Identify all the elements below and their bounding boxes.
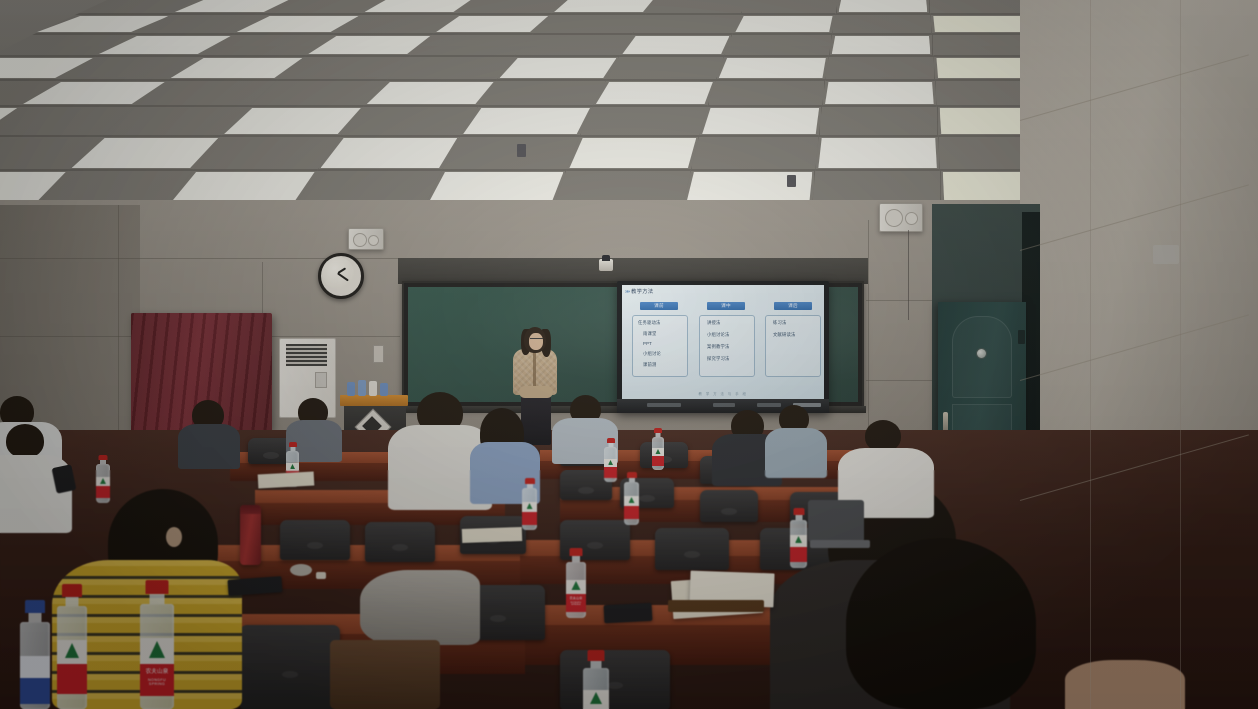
ceiling-camera: [787, 175, 796, 187]
thermos-flask[interactable]: [240, 505, 261, 565]
supply-bottle: [347, 382, 355, 396]
tissue: [316, 572, 326, 579]
wall-mounted-speaker: [1153, 245, 1179, 264]
door-handle[interactable]: [943, 412, 948, 432]
wall-seam: [118, 205, 119, 455]
ceiling-tile: [825, 56, 935, 80]
audience-head: [6, 424, 44, 458]
water-bottle[interactable]: 农夫山泉 NONGFU SPRING: [566, 548, 586, 618]
chair: [240, 625, 340, 709]
supply-bottle: [380, 383, 388, 396]
door-hinge: [1018, 330, 1025, 344]
bottle-brand-latin: NONGFU SPRING: [140, 679, 174, 686]
ceiling-tile: [832, 14, 932, 34]
water-bottle[interactable]: [57, 584, 87, 709]
slide-item: 任务驱动法: [638, 320, 660, 326]
small-cup: [290, 564, 312, 576]
ceiling-tile: [442, 136, 580, 170]
slide-item: 讲授法: [707, 320, 721, 326]
book-spine: [668, 600, 764, 612]
ceiling-tile: [819, 106, 939, 136]
chair: [640, 442, 688, 468]
door-peephole: [976, 348, 987, 359]
thermos-lid[interactable]: [240, 505, 261, 514]
supply-bottle: [358, 380, 366, 396]
wall-socket[interactable]: [373, 345, 384, 363]
podium-top: [340, 395, 408, 406]
laptop[interactable]: [808, 500, 864, 542]
ceiling-light-panel: [500, 58, 617, 78]
slide-column-header-1: 课前: [640, 302, 678, 310]
supply-bottle: [369, 381, 377, 396]
water-bottle[interactable]: [652, 428, 664, 470]
ceiling-light-panel: [735, 16, 832, 32]
water-bottle[interactable]: 农夫山泉 NONGFU SPRING: [140, 580, 174, 709]
ceiling-tile: [341, 106, 479, 136]
front-right-speaker: [879, 203, 923, 232]
ceiling-light-panel: [933, 16, 1028, 32]
chair: [700, 490, 758, 522]
water-bottle[interactable]: [624, 472, 639, 525]
ceiling-light-panel: [818, 138, 936, 168]
slide-column-header-2: 课中: [707, 302, 745, 310]
ceiling-tile: [633, 14, 741, 34]
ceiling-tile: [478, 80, 606, 106]
ac-control-panel[interactable]: [315, 372, 327, 388]
blackboard-camera: [598, 255, 614, 272]
foreground-neck: [1065, 660, 1185, 709]
bottle-brand-label: 农夫山泉: [566, 597, 586, 600]
ceiling-tile: [606, 56, 724, 80]
water-bottle[interactable]: [522, 478, 537, 530]
bottle-brand-latin: NONGFU SPRING: [566, 602, 586, 606]
slide-item: PPT: [643, 341, 652, 346]
audience-body: [765, 428, 827, 478]
chair: [365, 522, 435, 562]
double-chevron-icon: »»: [625, 289, 629, 295]
slide-item: 雨课堂: [643, 331, 657, 337]
ceiling-tile: [533, 14, 646, 34]
ceiling-light-panel: [596, 82, 713, 104]
paper-sheet: [258, 472, 315, 489]
slide-item: 小组讨论法: [707, 332, 729, 338]
ceiling-camera: [517, 144, 526, 157]
slide-column-header-3: 课后: [774, 302, 812, 310]
ceiling-light-panel: [825, 82, 934, 104]
presenter-hands: [519, 386, 553, 398]
ac-grille: [286, 344, 327, 366]
ceiling-light-panel: [719, 58, 826, 78]
water-bottle[interactable]: [604, 438, 617, 482]
slide-title-row: »»教学方法: [625, 288, 653, 295]
presenter-glasses: [530, 338, 543, 342]
ceiling-light-panel: [569, 138, 696, 168]
ceiling-light-panel: [622, 36, 729, 54]
speaker-cable: [908, 230, 909, 320]
slide-item: 案例教学法: [707, 344, 729, 350]
ceiling-light-panel: [321, 138, 458, 168]
front-left-speaker: [348, 228, 384, 250]
ceiling-light-panel: [554, 0, 656, 12]
ceiling-tile: [691, 136, 819, 170]
phone[interactable]: [604, 603, 653, 623]
water-bottle-blue[interactable]: [20, 600, 50, 709]
slide-item: 练习法: [773, 320, 787, 326]
clock-face: [322, 257, 354, 289]
classroom-photo: »»教学方法 课前 任务驱动法 雨课堂 PPT 小组讨论 课前测 课中 讲授法 …: [0, 0, 1258, 709]
slide-item: 课前测: [643, 362, 657, 368]
draped-jacket: [360, 570, 480, 645]
ceiling-light-panel: [702, 108, 819, 134]
ceiling-tile: [646, 0, 749, 14]
slide-item: 探究学习法: [707, 356, 729, 362]
ceiling-tile: [929, 0, 1025, 14]
wall-panel-seam: [1180, 0, 1181, 709]
chair: [280, 520, 350, 560]
ceiling-tile: [724, 34, 832, 56]
laptop-base: [810, 540, 870, 548]
ceiling-tile: [741, 0, 839, 14]
ceiling-tile: [708, 80, 826, 106]
audience-face: [166, 527, 182, 547]
ceiling-light-panel: [463, 108, 590, 134]
wall-panel-seam: [1090, 0, 1091, 709]
slide-item: 文献研读法: [773, 332, 795, 338]
water-bottle[interactable]: [583, 650, 609, 709]
water-bottle[interactable]: [790, 508, 807, 568]
chair: [655, 528, 729, 570]
presenter-legs: [521, 393, 551, 445]
bottle-brand-label: 农夫山泉: [140, 670, 174, 676]
slide-item: 小组讨论: [643, 351, 661, 357]
foreground-head: [846, 538, 1036, 709]
slide-footer: 教 学 方 法 与 手 段: [622, 391, 824, 396]
audience-body: [178, 424, 240, 469]
ceiling-tile: [515, 34, 633, 56]
chair: [560, 650, 670, 709]
slide-title: 教学方法: [631, 289, 653, 295]
paper-sheet: [462, 527, 522, 543]
ceiling-tile: [580, 106, 708, 136]
presentation-screen[interactable]: »»教学方法 课前 任务驱动法 雨课堂 PPT 小组讨论 课前测 课中 讲授法 …: [622, 285, 824, 399]
ceiling-light-panel: [839, 0, 928, 12]
water-bottle[interactable]: [96, 455, 110, 503]
shoulder-bag: [330, 640, 440, 709]
ceiling-tile: [456, 0, 569, 14]
ceiling-light-panel: [832, 36, 931, 54]
